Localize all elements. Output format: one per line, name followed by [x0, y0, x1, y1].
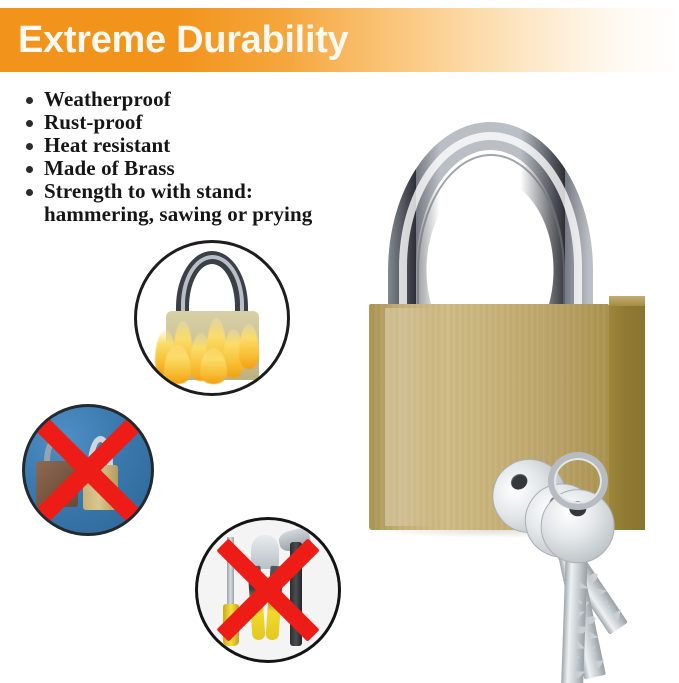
rust-resistance-badge: [22, 404, 154, 536]
flame-icon: [239, 324, 259, 369]
list-item: Rust-proof: [24, 111, 394, 134]
pliers-handle-right-icon: [265, 566, 283, 641]
key-blade: [561, 551, 588, 683]
feature-list: Weatherproof Rust-proof Heat resistant M…: [24, 88, 394, 226]
list-item: Made of Brass: [24, 157, 394, 180]
list-item: Strength to with stand: hammering, sawin…: [24, 180, 394, 226]
list-item: Weatherproof: [24, 88, 394, 111]
bullet-icon: [26, 97, 33, 104]
feature-text: Rust-proof: [44, 110, 143, 134]
screwdriver-handle-icon: [223, 604, 240, 646]
feature-subtext: hammering, sawing or prying: [44, 203, 394, 226]
brass-padlock-icon: [83, 465, 118, 510]
key-ring-inner-edge: [554, 458, 602, 504]
feature-text: Made of Brass: [44, 156, 175, 180]
pliers-icon: [251, 535, 279, 569]
bullet-icon: [26, 143, 33, 150]
rusted-padlock-icon: [36, 461, 78, 506]
hammer-handle-icon: [290, 542, 301, 646]
bullet-icon: [26, 120, 33, 127]
bullet-icon: [26, 189, 33, 196]
key-set: [470, 452, 679, 683]
screwdriver-icon: [227, 537, 234, 610]
list-item: Heat resistant: [24, 134, 394, 157]
page-title: Extreme Durability: [18, 12, 348, 68]
pliers-handle-left-icon: [247, 566, 265, 641]
feature-text: Heat resistant: [44, 133, 170, 157]
bullet-icon: [26, 166, 33, 173]
feature-text: Weatherproof: [44, 87, 171, 111]
padlock-body-top-bevel: [609, 296, 645, 306]
feature-text: Strength to with stand:: [44, 179, 253, 203]
product-infographic: Extreme Durability Weatherproof Rust-pro…: [0, 0, 679, 683]
tamper-resistance-badge: [195, 517, 341, 663]
heat-resistance-badge: [134, 240, 290, 396]
padlock-body-highlight: [385, 308, 437, 526]
